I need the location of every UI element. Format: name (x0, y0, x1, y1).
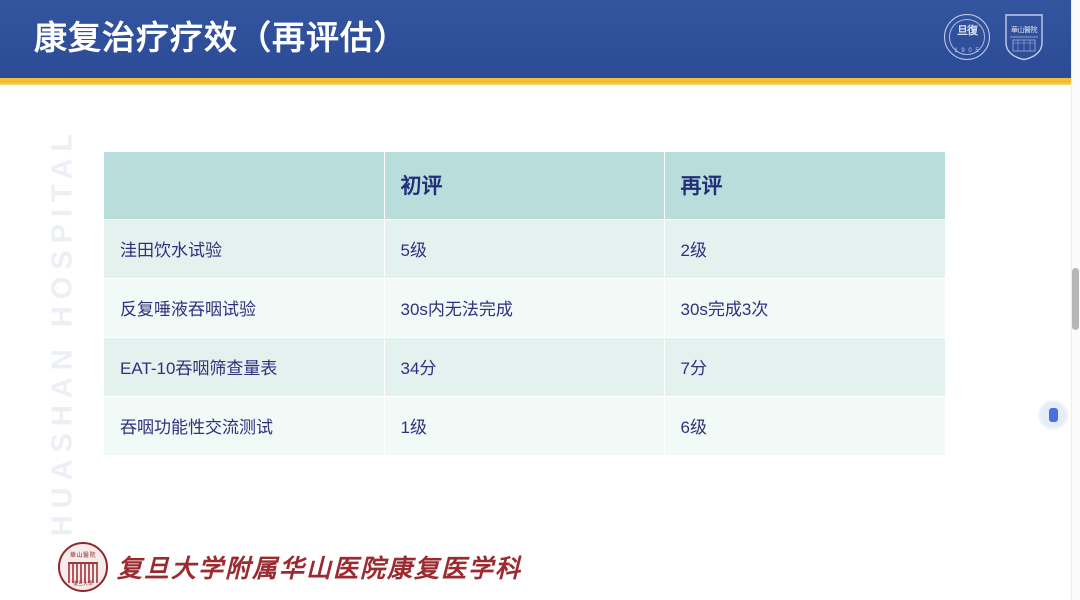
fudan-university-seal-icon: 旦復 1 9 0 5 (944, 14, 990, 60)
slide-canvas: 康复治疗疗效（再评估） 旦復 1 9 0 5 華山醫院 HUASHAN HOSP… (0, 0, 1080, 600)
cell-initial: 5级 (384, 219, 664, 278)
table-row: 反复唾液吞咽试验 30s内无法完成 30s完成3次 (104, 278, 945, 337)
cell-item: EAT-10吞咽筛查量表 (104, 337, 384, 396)
column-header-initial: 初评 (384, 152, 664, 219)
page-title: 康复治疗疗效（再评估） (34, 16, 408, 60)
footer-department-name: 复旦大学附属华山医院康复医学科 (117, 549, 522, 585)
column-header-item (104, 152, 384, 219)
table-row: EAT-10吞咽筛查量表 34分 7分 (104, 337, 945, 396)
seal-center-glyphs: 旦復 (945, 26, 989, 37)
cell-reassess: 30s完成3次 (664, 278, 945, 337)
vertical-scrollbar[interactable] (1071, 0, 1080, 600)
table-row: 洼田饮水试验 5级 2级 (104, 219, 945, 278)
cell-reassess: 6级 (664, 396, 945, 455)
side-watermark: HUASHAN HOSPITAL (47, 112, 80, 552)
rehabilitation-outcome-table: 初评 再评 洼田饮水试验 5级 2级 反复唾液吞咽试验 30s内无法完成 30s… (104, 152, 945, 455)
cell-reassess: 7分 (664, 337, 945, 396)
scrollbar-thumb[interactable] (1072, 268, 1079, 330)
logo-group: 旦復 1 9 0 5 華山醫院 (944, 13, 1044, 61)
crest-text: 華山醫院 (1004, 27, 1044, 35)
column-header-reassess: 再评 (664, 152, 945, 219)
footer: 華山醫院 復旦大學 复旦大学附属华山医院康复医学科 (58, 542, 522, 592)
shield-shape (1004, 13, 1044, 61)
cell-initial: 1级 (384, 396, 664, 455)
huashan-hospital-crest-icon: 華山醫院 (1004, 13, 1044, 61)
cell-reassess: 2级 (664, 219, 945, 278)
cell-item: 吞咽功能性交流测试 (104, 396, 384, 455)
cell-initial: 34分 (384, 337, 664, 396)
floating-action-button[interactable] (1040, 402, 1066, 428)
cell-item: 反复唾液吞咽试验 (104, 278, 384, 337)
huashan-hospital-emblem-icon: 華山醫院 復旦大學 (58, 542, 108, 592)
header-accent-line (0, 78, 1080, 85)
cell-item: 洼田饮水试验 (104, 219, 384, 278)
table-header-row: 初评 再评 (104, 152, 945, 219)
seal-year: 1 9 0 5 (945, 48, 989, 54)
emblem-bottom-text: 復旦大學 (60, 580, 106, 587)
table-row: 吞咽功能性交流测试 1级 6级 (104, 396, 945, 455)
cell-initial: 30s内无法完成 (384, 278, 664, 337)
fab-glyph-icon (1049, 408, 1058, 422)
emblem-top-text: 華山醫院 (60, 550, 106, 559)
